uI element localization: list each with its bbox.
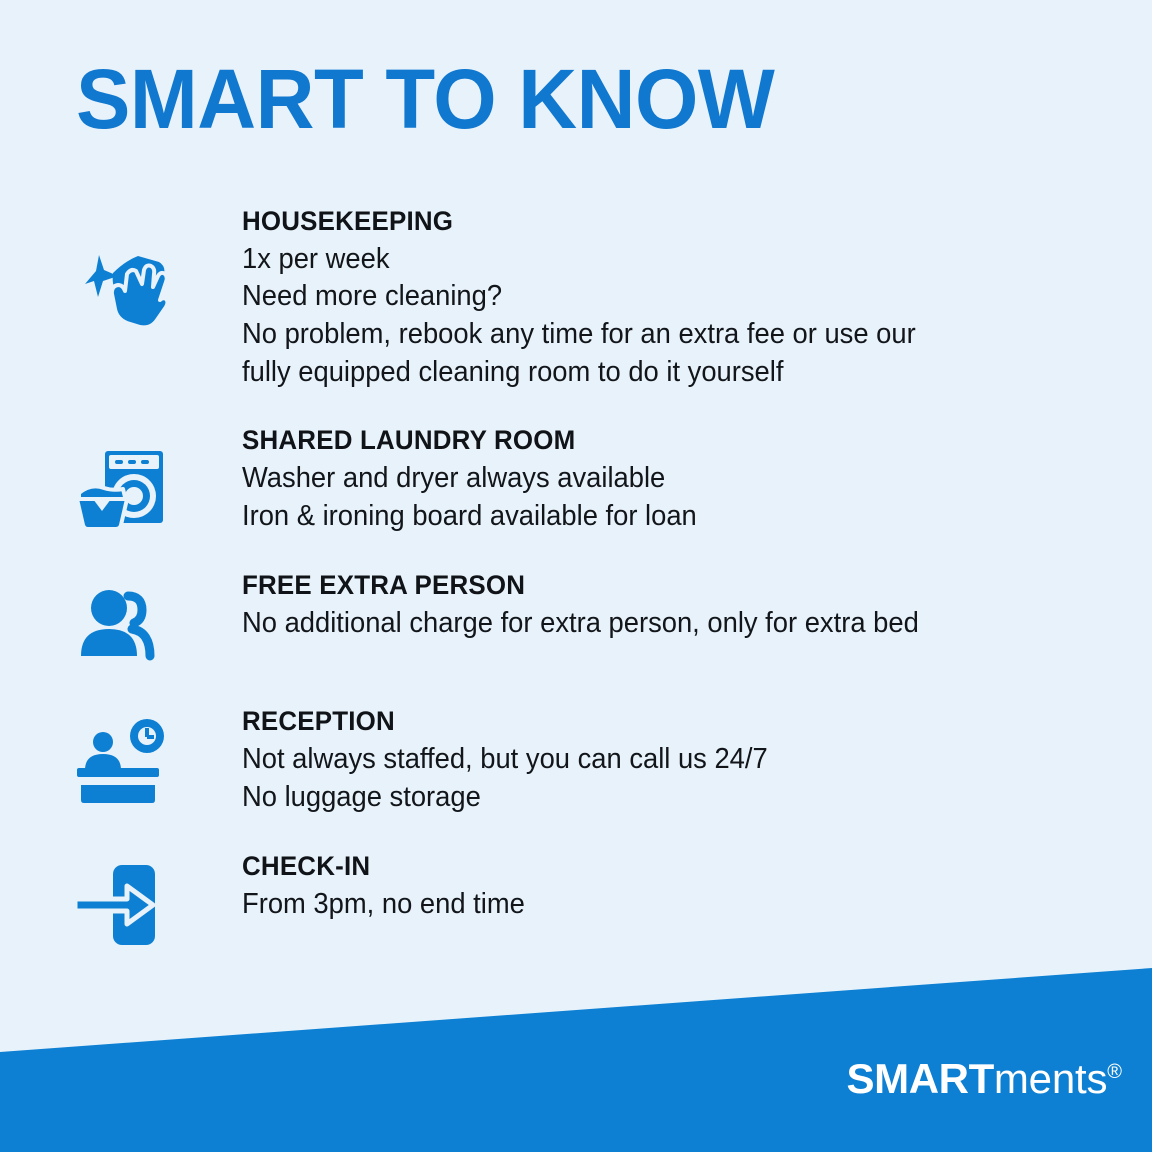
item-line: Need more cleaning? [242, 278, 1077, 316]
item-title: HOUSEKEEPING [242, 206, 1077, 238]
washing-machine-icon [67, 441, 175, 533]
brand-name-bold: SMART [847, 1055, 994, 1102]
item-title: SHARED LAUNDRY ROOM [242, 425, 1077, 457]
text-cell: FREE EXTRA PERSON No additional charge f… [242, 570, 1152, 642]
icon-cell [0, 851, 242, 951]
page-title: SMART TO KNOW [76, 57, 774, 141]
icon-cell [0, 206, 242, 332]
brand-logo: SMARTments® [847, 1058, 1122, 1100]
text-cell: HOUSEKEEPING 1x per week Need more clean… [242, 206, 1152, 391]
info-list: HOUSEKEEPING 1x per week Need more clean… [0, 206, 1152, 951]
item-title: RECEPTION [242, 706, 1077, 738]
reception-desk-clock-icon [67, 714, 175, 806]
icon-cell [0, 425, 242, 533]
registered-trademark-icon: ® [1107, 1061, 1122, 1083]
list-item-check-in: CHECK-IN From 3pm, no end time [0, 851, 1152, 951]
icon-cell [0, 570, 242, 670]
item-line: From 3pm, no end time [242, 886, 1077, 924]
item-line: Washer and dryer always available [242, 460, 1077, 498]
two-people-icon [67, 578, 175, 670]
list-item-free-extra-person: FREE EXTRA PERSON No additional charge f… [0, 570, 1152, 670]
list-item-housekeeping: HOUSEKEEPING 1x per week Need more clean… [0, 206, 1152, 391]
item-line: fully equipped cleaning room to do it yo… [242, 354, 1077, 392]
item-title: CHECK-IN [242, 851, 1077, 883]
door-enter-arrow-icon [67, 859, 175, 951]
text-cell: CHECK-IN From 3pm, no end time [242, 851, 1152, 923]
item-line: No additional charge for extra person, o… [242, 605, 1077, 643]
item-title: FREE EXTRA PERSON [242, 570, 1077, 602]
brand-name-light: ments [994, 1055, 1107, 1102]
icon-cell [0, 706, 242, 806]
item-line: Not always staffed, but you can call us … [242, 741, 1077, 779]
item-line: Iron & ironing board available for loan [242, 498, 1077, 536]
list-item-shared-laundry-room: SHARED LAUNDRY ROOM Washer and dryer alw… [0, 425, 1152, 535]
item-line: No luggage storage [242, 779, 1077, 817]
list-item-reception: RECEPTION Not always staffed, but you ca… [0, 706, 1152, 816]
text-cell: RECEPTION Not always staffed, but you ca… [242, 706, 1152, 816]
item-line: 1x per week [242, 241, 1077, 279]
text-cell: SHARED LAUNDRY ROOM Washer and dryer alw… [242, 425, 1152, 535]
smart-to-know-poster: SMART TO KNOW [0, 0, 1152, 1152]
cleaning-hand-icon [67, 240, 175, 332]
item-line: No problem, rebook any time for an extra… [242, 316, 1077, 354]
